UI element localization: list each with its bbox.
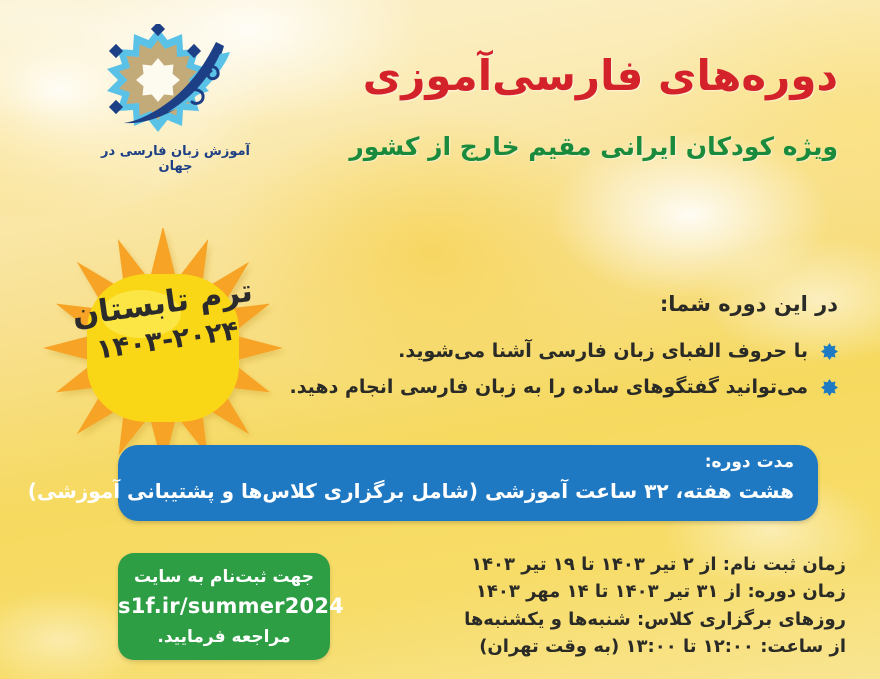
registration-line-1: جهت ثبت‌نام به سایت — [118, 553, 330, 587]
schedule-details: زمان ثبت نام: از ۲ تیر ۱۴۰۳ تا ۱۹ تیر ۱۴… — [376, 551, 846, 660]
duration-detail: هشت هفته، ۳۲ ساعت آموزشی (شامل برگزاری ک… — [142, 479, 794, 503]
logo-tagline: آموزش زبان فارسی در جهان — [88, 144, 263, 174]
registration-box[interactable]: جهت ثبت‌نام به سایت s1f.ir/summer2024 مر… — [118, 553, 330, 660]
star-bullet-icon — [821, 343, 838, 360]
benefit-text: با حروف الفبای زبان فارسی آشنا می‌شوید. — [398, 340, 808, 362]
list-item: با حروف الفبای زبان فارسی آشنا می‌شوید. — [278, 340, 838, 362]
schedule-course-period: زمان دوره: از ۳۱ تیر ۱۴۰۳ تا ۱۴ مهر ۱۴۰۳ — [376, 578, 846, 605]
schedule-registration-period: زمان ثبت نام: از ۲ تیر ۱۴۰۳ تا ۱۹ تیر ۱۴… — [376, 551, 846, 578]
saadi-foundation-logo: آموزش زبان فارسی در جهان — [88, 24, 263, 184]
registration-line-3: مراجعه فرمایید. — [118, 618, 330, 647]
course-duration-box: مدت دوره: هشت هفته، ۳۲ ساعت آموزشی (شامل… — [118, 445, 818, 521]
benefit-text: می‌توانید گفتگوهای ساده را به زبان فارسی… — [289, 376, 808, 398]
page-subtitle: ویژه کودکان ایرانی مقیم خارج از کشور — [278, 132, 838, 162]
schedule-class-days: روزهای برگزاری کلاس: شنبه‌ها و یکشنبه‌ها — [376, 606, 846, 633]
poster-canvas: آموزش زبان فارسی در جهان دوره‌های فارسی‌… — [0, 0, 880, 679]
course-intro-text: در این دوره شما: — [408, 292, 838, 316]
star-bullet-icon — [821, 379, 838, 396]
logo-star-emblem-icon — [98, 24, 238, 142]
duration-heading: مدت دوره: — [705, 452, 794, 472]
list-item: می‌توانید گفتگوهای ساده را به زبان فارسی… — [278, 376, 838, 398]
schedule-class-hours: از ساعت: ۱۲:۰۰ تا ۱۳:۰۰ (به وقت تهران) — [376, 633, 846, 660]
summer-term-sun-badge: ترم تابستان ۱۴۰۳-۲۰۲۴ — [18, 228, 308, 468]
course-benefits-list: با حروف الفبای زبان فارسی آشنا می‌شوید. … — [278, 340, 838, 412]
page-title: دوره‌های فارسی‌آموزی — [278, 52, 838, 99]
registration-website-link[interactable]: s1f.ir/summer2024 — [118, 587, 330, 618]
